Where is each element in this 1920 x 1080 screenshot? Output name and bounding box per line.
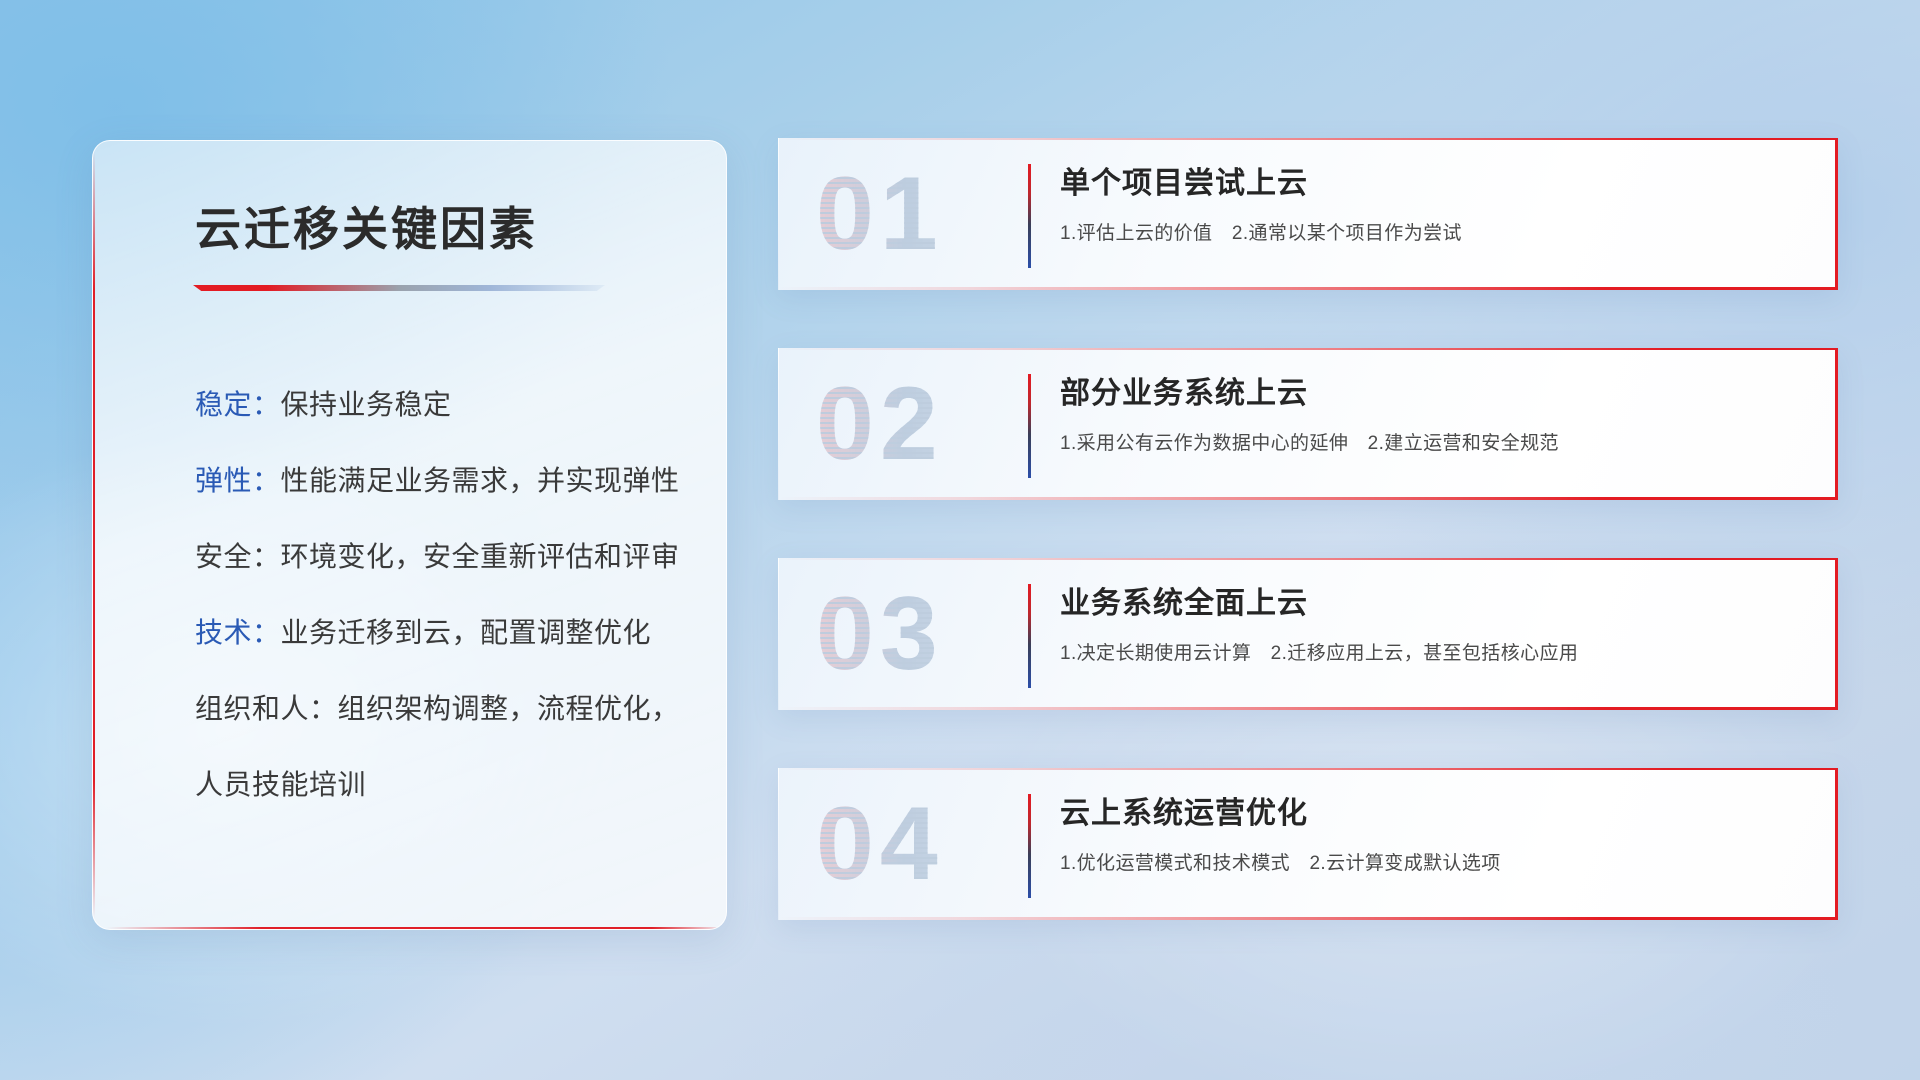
card-top-accent (778, 768, 1838, 770)
factor-desc: 业务迁移到云，配置调整优化 (281, 617, 652, 648)
stage-subtitle: 1.决定长期使用云计算 2.迁移应用上云，甚至包括核心应用 (1060, 640, 1808, 668)
card-right-accent (1835, 558, 1838, 710)
factor-item: 稳定：保持业务稳定 (195, 367, 695, 443)
card-body: 部分业务系统上云 1.采用公有云作为数据中心的延伸 2.建立运营和安全规范 (1060, 372, 1808, 458)
card-left-highlight (778, 768, 779, 920)
key-factors-panel: 云迁移关键因素 稳定：保持业务稳定 弹性：性能满足业务需求，并实现弹性 安全：环… (92, 140, 727, 930)
factor-item-continued: 人员技能培训 (195, 747, 695, 823)
card-right-accent (1835, 768, 1838, 920)
stage-number: 01 (816, 152, 1036, 276)
stage-number: 02 (816, 362, 1036, 486)
stage-card[interactable]: 02 部分业务系统上云 1.采用公有云作为数据中心的延伸 2.建立运营和安全规范 (778, 348, 1838, 500)
card-top-accent (778, 348, 1838, 350)
stage-subtitle: 1.采用公有云作为数据中心的延伸 2.建立运营和安全规范 (1060, 430, 1808, 458)
factor-item: 技术：业务迁移到云，配置调整优化 (195, 595, 695, 671)
card-top-accent (778, 138, 1838, 140)
stage-number: 03 (816, 572, 1036, 696)
stage-title: 业务系统全面上云 (1060, 582, 1808, 626)
factor-item: 安全：环境变化，安全重新评估和评审 (195, 519, 695, 595)
stage-title: 单个项目尝试上云 (1060, 162, 1808, 206)
card-bottom-accent (778, 287, 1838, 290)
stage-subtitle: 1.评估上云的价值 2.通常以某个项目作为尝试 (1060, 220, 1808, 248)
card-divider-bar (1028, 164, 1031, 268)
factor-item: 组织和人：组织架构调整，流程优化， (195, 671, 695, 747)
card-body: 业务系统全面上云 1.决定长期使用云计算 2.迁移应用上云，甚至包括核心应用 (1060, 582, 1808, 668)
factor-label: 安全： (195, 541, 281, 572)
card-bottom-accent (778, 497, 1838, 500)
stage-card[interactable]: 01 单个项目尝试上云 1.评估上云的价值 2.通常以某个项目作为尝试 (778, 138, 1838, 290)
stage-card[interactable]: 03 业务系统全面上云 1.决定长期使用云计算 2.迁移应用上云，甚至包括核心应… (778, 558, 1838, 710)
factor-desc: 保持业务稳定 (281, 389, 452, 420)
factor-label: 稳定： (195, 389, 281, 420)
factor-label: 技术： (195, 617, 281, 648)
page-title: 云迁移关键因素 (195, 193, 726, 259)
stage-title: 云上系统运营优化 (1060, 792, 1808, 836)
factor-desc: 组织架构调整，流程优化， (338, 693, 680, 724)
card-left-highlight (778, 138, 779, 290)
card-right-accent (1835, 348, 1838, 500)
card-top-accent (778, 558, 1838, 560)
card-body: 单个项目尝试上云 1.评估上云的价值 2.通常以某个项目作为尝试 (1060, 162, 1808, 248)
stage-card-list: 01 单个项目尝试上云 1.评估上云的价值 2.通常以某个项目作为尝试 02 部… (778, 138, 1838, 978)
factor-desc: 人员技能培训 (195, 769, 366, 800)
stage-subtitle: 1.优化运营模式和技术模式 2.云计算变成默认选项 (1060, 850, 1808, 878)
card-bottom-accent (778, 707, 1838, 710)
stage-card[interactable]: 04 云上系统运营优化 1.优化运营模式和技术模式 2.云计算变成默认选项 (778, 768, 1838, 920)
card-left-highlight (778, 348, 779, 500)
card-bottom-accent (778, 917, 1838, 920)
factor-label: 弹性： (195, 465, 281, 496)
stage-title: 部分业务系统上云 (1060, 372, 1808, 416)
factor-label: 组织和人： (195, 693, 338, 724)
card-divider-bar (1028, 584, 1031, 688)
factor-desc: 性能满足业务需求，并实现弹性 (281, 465, 680, 496)
title-underline-rule (193, 285, 605, 291)
card-left-highlight (778, 558, 779, 710)
factor-item: 弹性：性能满足业务需求，并实现弹性 (195, 443, 695, 519)
card-right-accent (1835, 138, 1838, 290)
card-divider-bar (1028, 794, 1031, 898)
card-divider-bar (1028, 374, 1031, 478)
stage-number: 04 (816, 782, 1036, 906)
factor-list: 稳定：保持业务稳定 弹性：性能满足业务需求，并实现弹性 安全：环境变化，安全重新… (195, 367, 695, 823)
card-body: 云上系统运营优化 1.优化运营模式和技术模式 2.云计算变成默认选项 (1060, 792, 1808, 878)
factor-desc: 环境变化，安全重新评估和评审 (281, 541, 680, 572)
